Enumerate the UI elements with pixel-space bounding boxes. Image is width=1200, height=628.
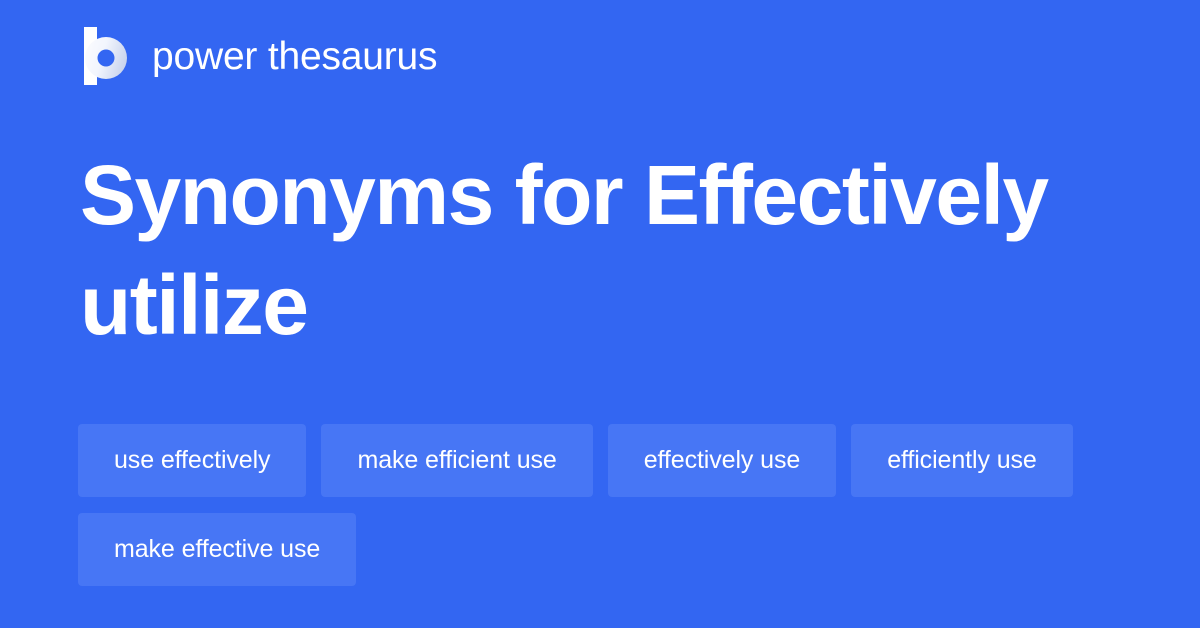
synonym-chip[interactable]: make effective use — [78, 513, 356, 586]
brand-header[interactable]: power thesaurus — [80, 27, 437, 85]
synonym-chip-label: make efficient use — [357, 448, 556, 473]
power-thesaurus-b-logo-icon — [80, 27, 130, 85]
synonym-chip-label: effectively use — [644, 448, 800, 473]
synonym-chip[interactable]: effectively use — [608, 424, 836, 497]
synonym-chip-label: efficiently use — [887, 448, 1037, 473]
page-title: Synonyms for Effectively utilize — [80, 140, 1120, 360]
synonym-chip-list: use effectively make efficient use effec… — [78, 424, 1138, 586]
brand-name: power thesaurus — [152, 37, 437, 76]
synonym-chip[interactable]: efficiently use — [851, 424, 1073, 497]
synonym-chip-label: make effective use — [114, 537, 320, 562]
synonym-chip[interactable]: use effectively — [78, 424, 306, 497]
synonym-chip[interactable]: make efficient use — [321, 424, 592, 497]
synonym-chip-label: use effectively — [114, 448, 270, 473]
